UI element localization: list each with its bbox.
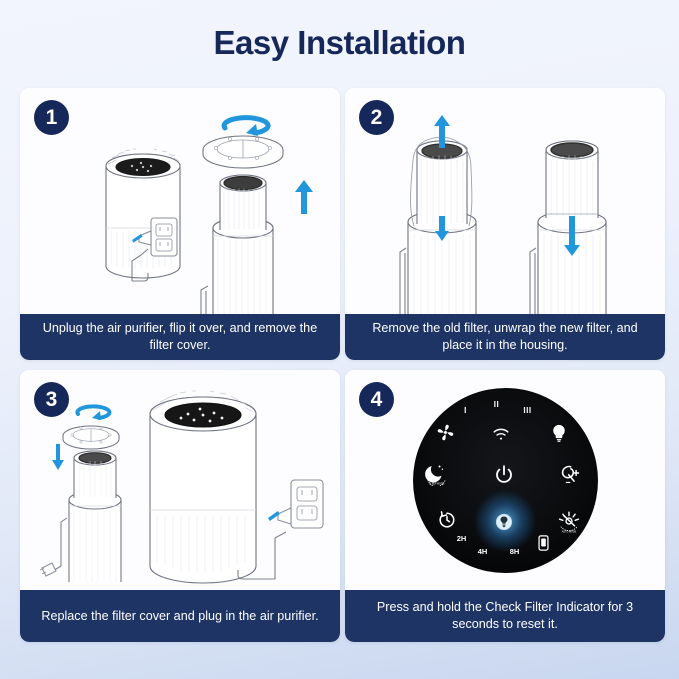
page-title: Easy Installation	[0, 24, 679, 62]
timer-icon[interactable]	[435, 508, 459, 532]
timer-glyph	[436, 509, 458, 531]
step-badge-1: 1	[34, 100, 69, 135]
steps-grid: 1 Unplug the air purifier, flip it over,…	[20, 88, 659, 658]
svg-text:SLEEP MODE: SLEEP MODE	[429, 484, 444, 486]
up-arrow-icon	[295, 180, 313, 214]
rotate-arrow-icon	[224, 118, 268, 136]
sleep-mode-icon[interactable]: SLEEP MODE	[424, 461, 450, 487]
step-badge-4: 4	[359, 382, 394, 417]
step-card-2: 2 Remove the old filter, unwrap the new …	[345, 88, 665, 360]
installation-infographic: Easy Installation	[0, 0, 679, 679]
wifi-glyph	[492, 427, 510, 442]
down-arrow-icon-3	[52, 444, 64, 470]
check-filter-indicator-icon[interactable]	[492, 510, 516, 534]
fan-speed-icon[interactable]	[435, 422, 457, 444]
svg-text:AUTO MODE: AUTO MODE	[561, 530, 576, 533]
power-glyph	[492, 463, 516, 487]
bulb-glyph	[549, 423, 569, 443]
power-icon[interactable]	[491, 462, 517, 488]
rotate-arrow-icon-3	[77, 406, 109, 420]
step-badge-2: 2	[359, 100, 394, 135]
ionizer-icon[interactable]	[557, 462, 583, 488]
phone-lock-glyph	[538, 535, 549, 551]
step-card-1: 1 Unplug the air purifier, flip it over,…	[20, 88, 340, 360]
auto-glyph: AUTO MODE	[556, 509, 582, 535]
step-caption-3: Replace the filter cover and plug in the…	[20, 590, 340, 642]
ionizer-glyph	[558, 463, 582, 487]
timer-label-2h: 2H	[454, 534, 470, 544]
speed-indicator-2: II	[490, 400, 504, 410]
timer-label-4h: 4H	[475, 547, 491, 557]
light-bulb-icon[interactable]	[548, 422, 570, 444]
step-card-3: 3 Replace the filter cover and plug in t…	[20, 370, 340, 642]
step-caption-4: Press and hold the Check Filter Indicato…	[345, 590, 665, 642]
step-caption-2: Remove the old filter, unwrap the new fi…	[345, 314, 665, 360]
step-caption-1: Unplug the air purifier, flip it over, a…	[20, 314, 340, 360]
wifi-icon[interactable]	[491, 426, 511, 444]
timer-label-8h: 8H	[507, 547, 523, 557]
child-lock-icon[interactable]	[537, 534, 551, 552]
fan-glyph	[435, 422, 456, 443]
step-badge-3: 3	[34, 382, 69, 417]
speed-indicator-3: III	[520, 406, 536, 416]
control-panel-dial[interactable]: I II III	[413, 388, 598, 573]
sleep-glyph: SLEEP MODE	[424, 461, 449, 486]
step-card-4: I II III	[345, 370, 665, 642]
check-filter-glyph	[494, 512, 514, 532]
speed-indicator-1: I	[461, 406, 471, 416]
auto-mode-icon[interactable]: AUTO MODE	[555, 508, 583, 536]
